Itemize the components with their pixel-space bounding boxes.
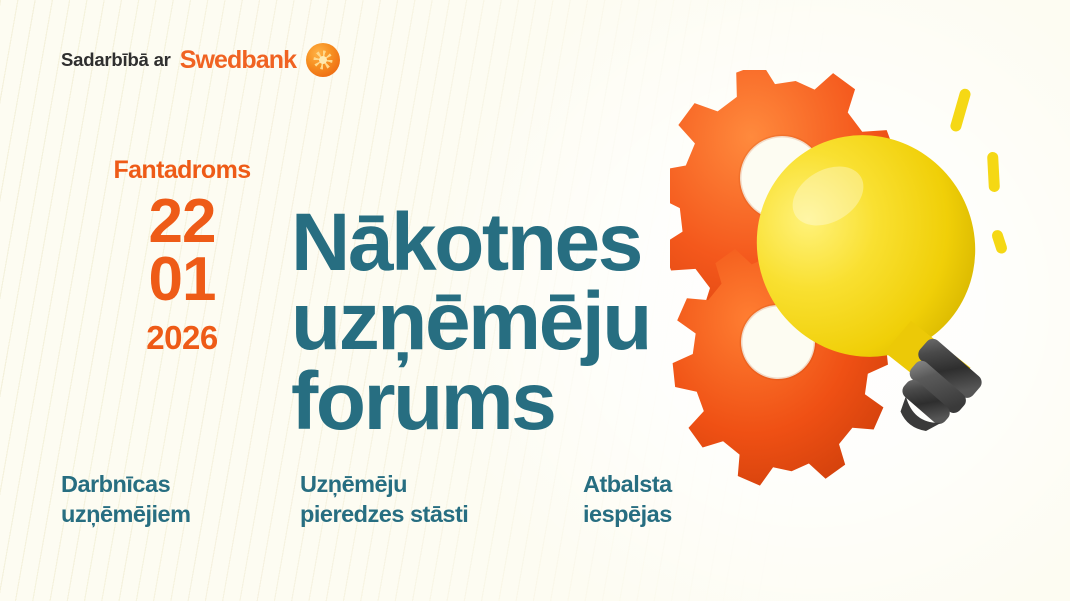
swedbank-oak-icon (306, 43, 340, 77)
event-month: 01 (92, 252, 272, 308)
headline-line-2: uzņēmēju (291, 282, 721, 362)
event-year: 2026 (92, 321, 272, 354)
event-meta-block: Fantadroms 22 01 2026 (92, 158, 272, 354)
headline-line-1: Nākotnes (291, 203, 721, 283)
feature-item-workshops: Darbnīcas uzņēmējiem (61, 469, 300, 529)
page-title: Nākotnes uzņēmēju forums (291, 203, 721, 442)
organizer-label: Fantadroms (92, 158, 272, 183)
partner-prefix-label: Sadarbībā ar (61, 49, 171, 71)
feature-item-stories: Uzņēmēju pieredzes stāsti (300, 469, 583, 529)
headline-line-3: forums (291, 362, 721, 442)
poster-canvas: Sadarbībā ar Swedbank Fantadroms 22 01 2… (0, 0, 1070, 601)
swedbank-wordmark: Swedbank (180, 46, 296, 75)
artwork-illustration (670, 70, 1070, 490)
event-day: 22 (92, 194, 272, 250)
partner-row: Sadarbībā ar Swedbank (61, 42, 340, 78)
